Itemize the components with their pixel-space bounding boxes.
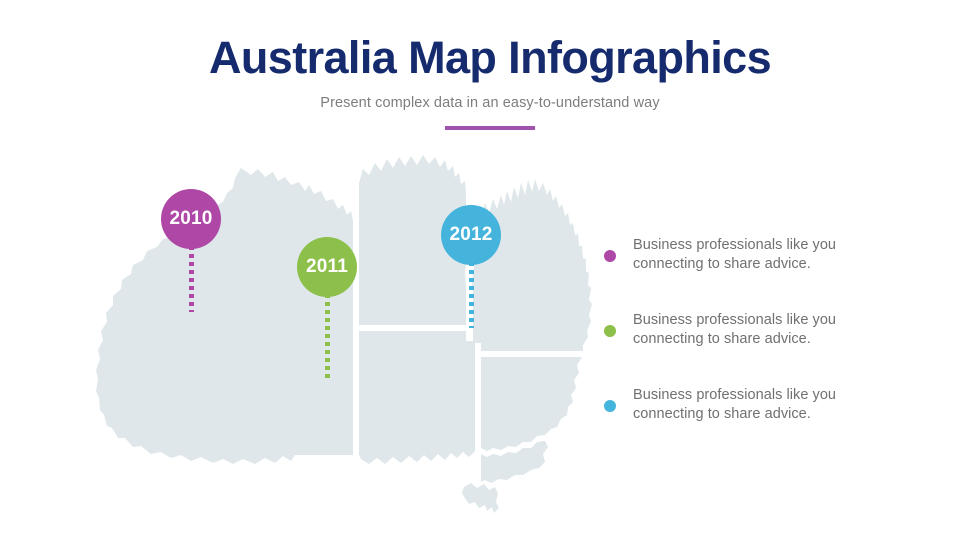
marker-bubble-2011[interactable]: 2011 [297, 237, 357, 297]
header: Australia Map Infographics Present compl… [0, 34, 980, 111]
marker-tail-2011 [325, 294, 330, 378]
title-divider [445, 126, 535, 130]
region-south-australia [359, 331, 475, 464]
marker-bubble-2010[interactable]: 2010 [161, 189, 221, 249]
legend-bullet-green-icon [604, 325, 616, 337]
legend-item-1[interactable]: Business professionals like you connecti… [604, 236, 904, 311]
legend-text-1: Business professionals like you connecti… [633, 236, 865, 274]
legend-item-3[interactable]: Business professionals like you connecti… [604, 386, 904, 461]
legend: Business professionals like you connecti… [604, 236, 904, 461]
page-subtitle: Present complex data in an easy-to-under… [0, 95, 980, 111]
marker-tail-2010 [189, 246, 194, 312]
marker-label-2011: 2011 [306, 256, 348, 278]
marker-label-2012: 2012 [449, 224, 492, 246]
legend-text-3: Business professionals like you connecti… [633, 386, 865, 424]
slide-canvas: Australia Map Infographics Present compl… [0, 0, 980, 551]
region-tasmania [462, 483, 499, 513]
page-title: Australia Map Infographics [0, 34, 980, 81]
legend-item-2[interactable]: Business professionals like you connecti… [604, 311, 904, 386]
region-western-australia [96, 168, 353, 464]
marker-tail-2012 [469, 262, 474, 328]
marker-bubble-2012[interactable]: 2012 [441, 205, 501, 265]
legend-text-2: Business professionals like you connecti… [633, 311, 865, 349]
region-queensland [472, 179, 592, 351]
marker-label-2010: 2010 [169, 208, 212, 230]
region-new-south-wales [481, 357, 582, 451]
legend-bullet-purple-icon [604, 250, 616, 262]
legend-bullet-blue-icon [604, 400, 616, 412]
